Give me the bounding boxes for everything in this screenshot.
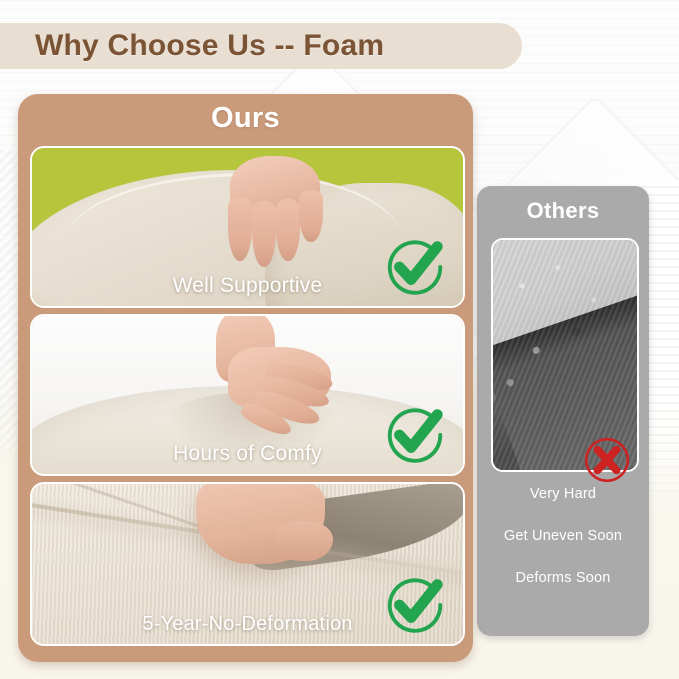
hand-graphic [209,156,330,270]
red-x-icon [581,434,633,486]
others-bullet-3: Deforms Soon [487,570,639,586]
green-check-icon [381,400,449,468]
others-bullet-2: Get Uneven Soon [487,528,639,544]
foot-graphic [196,482,325,564]
green-check-icon [381,232,449,300]
green-check-icon [381,570,449,638]
others-panel: Others Very Hard Get Uneven Soon Deforms… [477,186,649,636]
others-bullet-1: Very Hard [487,486,639,502]
ours-title: Ours [18,102,473,135]
others-title: Others [477,198,649,224]
hand-graphic [196,319,343,445]
infographic-canvas: Others Very Hard Get Uneven Soon Deforms… [0,0,679,679]
ours-photo-card-1: Well Supportive [30,146,465,308]
others-bullet-list: Very Hard Get Uneven Soon Deforms Soon [477,486,649,612]
ours-panel: Ours Well Supportive [18,94,473,662]
page-title: Why Choose Us -- Foam [35,29,384,63]
title-banner: Why Choose Us -- Foam [0,23,522,69]
ours-photo-card-2: Hours of Comfy [30,314,465,476]
ours-photo-card-3: 5-Year-No-Deformation [30,482,465,646]
